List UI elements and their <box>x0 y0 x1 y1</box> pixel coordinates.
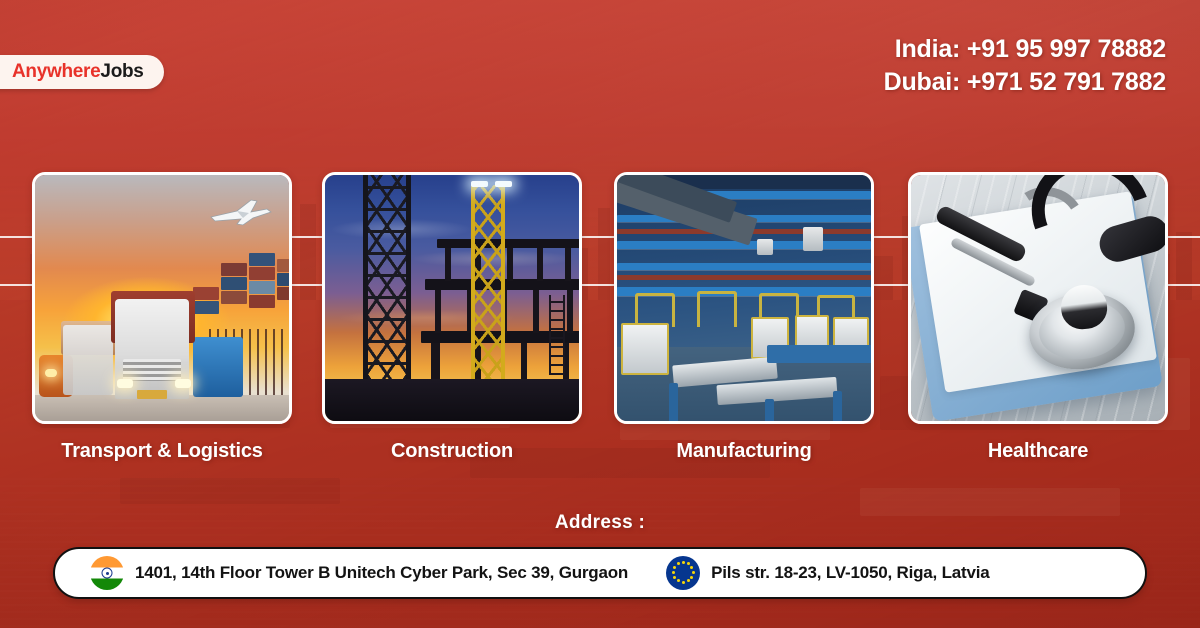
address-entry-india[interactable]: 1401, 14th Floor Tower B Unitech Cyber P… <box>90 556 628 590</box>
address-text-india: 1401, 14th Floor Tower B Unitech Cyber P… <box>135 563 628 583</box>
contact-phone-numbers: India: +91 95 997 78882 Dubai: +971 52 7… <box>884 33 1166 98</box>
address-heading: Address : <box>0 512 1200 534</box>
category-label-manufacturing: Manufacturing <box>614 440 874 463</box>
address-entry-latvia[interactable]: Pils str. 18-23, LV-1050, Riga, Latvia <box>666 556 989 590</box>
promotional-banner: AnywhereJobs India: +91 95 997 78882 Dub… <box>0 0 1200 628</box>
brand-name-jobs: Jobs <box>100 61 143 83</box>
european-union-flag-icon <box>666 556 700 590</box>
brand-name-anywhere: Anywhere <box>12 61 100 83</box>
category-card-manufacturing[interactable] <box>614 172 874 424</box>
category-card-row <box>0 172 1200 424</box>
construction-image <box>325 175 579 421</box>
india-phone-number[interactable]: India: +91 95 997 78882 <box>884 33 1166 66</box>
category-card-construction[interactable] <box>322 172 582 424</box>
category-label-construction: Construction <box>322 440 582 463</box>
india-flag-icon <box>90 556 124 590</box>
category-label-healthcare: Healthcare <box>908 440 1168 463</box>
category-label-transport-logistics: Transport & Logistics <box>32 440 292 463</box>
category-card-transport-logistics[interactable] <box>32 172 292 424</box>
address-bar: 1401, 14th Floor Tower B Unitech Cyber P… <box>53 547 1147 599</box>
address-text-latvia: Pils str. 18-23, LV-1050, Riga, Latvia <box>711 563 989 583</box>
dubai-phone-number[interactable]: Dubai: +971 52 791 7882 <box>884 66 1166 99</box>
manufacturing-image <box>617 175 871 421</box>
airplane-icon <box>207 197 273 227</box>
brand-logo[interactable]: AnywhereJobs <box>0 55 164 89</box>
crane-tower-icon <box>363 175 411 409</box>
transport-logistics-image <box>35 175 289 421</box>
healthcare-image <box>911 175 1165 421</box>
yellow-crane-icon <box>471 185 505 385</box>
category-card-healthcare[interactable] <box>908 172 1168 424</box>
